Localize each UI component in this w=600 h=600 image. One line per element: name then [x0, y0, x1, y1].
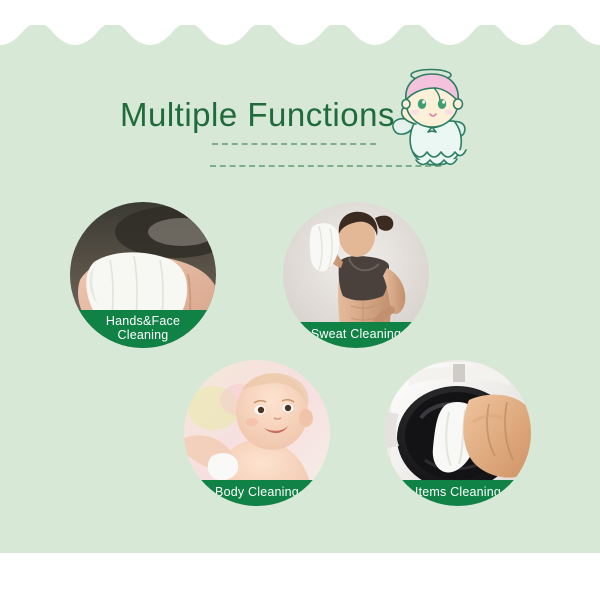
feature-label-line-1: Body Cleaning — [184, 485, 330, 499]
scalloped-top-edge-icon — [0, 25, 600, 51]
product-feature-banner: Multiple Functions — [0, 0, 600, 600]
feature-label-line-1: Items Cleaning — [385, 485, 531, 499]
feature-label-items-cleaning: Items Cleaning — [385, 480, 531, 506]
feature-label-line-2: Cleaning — [70, 328, 216, 342]
feature-card-body-cleaning[interactable]: Body Cleaning — [184, 360, 330, 506]
feature-label-line-1: Hands&Face — [70, 314, 216, 328]
feature-card-sweat-cleaning[interactable]: Sweat Cleaning — [283, 202, 429, 348]
feature-card-hands-face-cleaning[interactable]: Hands&Face Cleaning — [70, 202, 216, 348]
feature-label-sweat-cleaning: Sweat Cleaning — [283, 322, 429, 348]
title-divider-short — [212, 143, 376, 145]
feature-label-body-cleaning: Body Cleaning — [184, 480, 330, 506]
feature-label-hands-face-cleaning: Hands&Face Cleaning — [70, 310, 216, 348]
page-title: Multiple Functions — [120, 96, 395, 134]
feature-label-line-1: Sweat Cleaning — [283, 327, 429, 341]
scalloped-bottom-edge-icon — [0, 527, 600, 553]
feature-card-items-cleaning[interactable]: Items Cleaning — [385, 360, 531, 506]
baby-angel-icon — [382, 64, 490, 178]
